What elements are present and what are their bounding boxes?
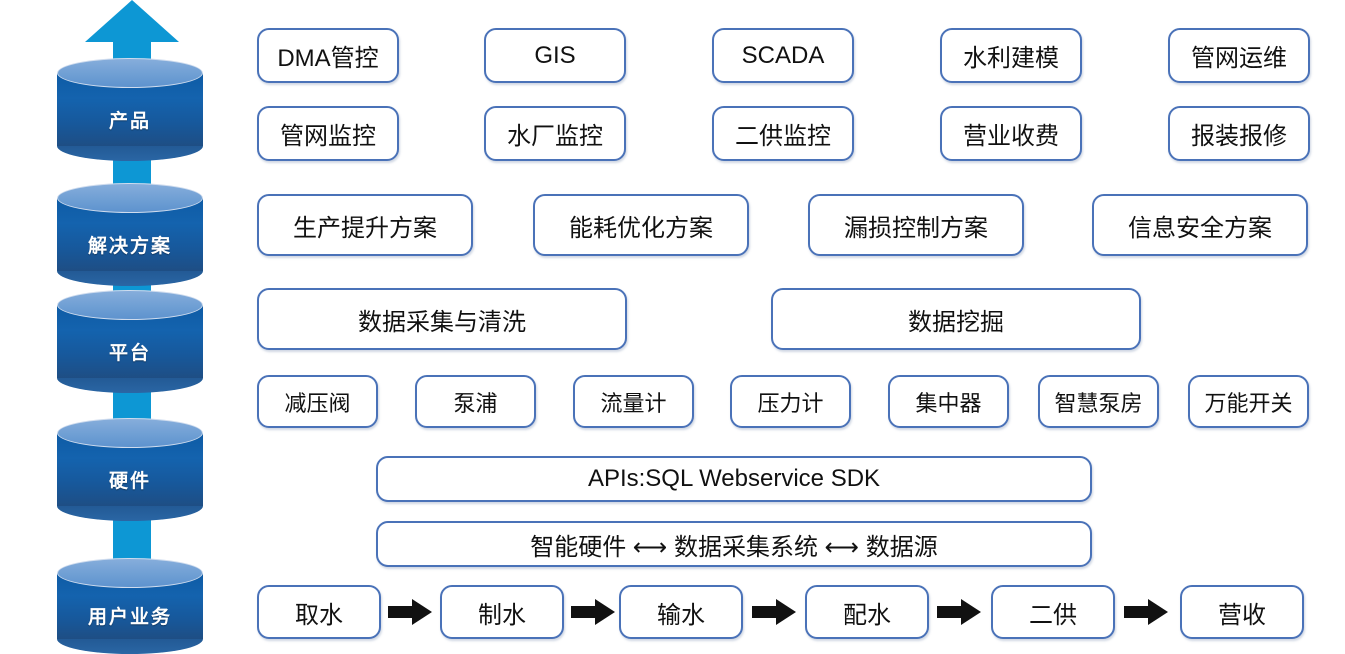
node-universal-switch[interactable]: 万能开关 (1188, 375, 1309, 428)
node-installation-repair[interactable]: 报装报修 (1168, 106, 1310, 161)
node-leakage-control-plan[interactable]: 漏损控制方案 (808, 194, 1024, 256)
layer-label-product: 产品 (57, 106, 203, 133)
node-pipe-network-monitor[interactable]: 管网监控 (257, 106, 399, 161)
cylinder-top (57, 558, 203, 588)
node-gis[interactable]: GIS (484, 28, 626, 83)
node-water-modeling[interactable]: 水利建模 (940, 28, 1082, 83)
arrow-right-icon-2 (571, 599, 615, 625)
cylinder-top (57, 290, 203, 320)
node-water-transmission[interactable]: 输水 (619, 585, 743, 639)
layer-label-solution: 解决方案 (57, 231, 203, 258)
node-pressure-gauge[interactable]: 压力计 (730, 375, 851, 428)
node-secondary-supply-monitor[interactable]: 二供监控 (712, 106, 854, 161)
cylinder-top (57, 58, 203, 88)
layer-label-hardware: 硬件 (57, 466, 203, 493)
node-pressure-reducing-valve[interactable]: 减压阀 (257, 375, 378, 428)
node-flow-meter[interactable]: 流量计 (573, 375, 694, 428)
cylinder-top (57, 183, 203, 213)
node-water-intake[interactable]: 取水 (257, 585, 381, 639)
node-waterworks-monitor[interactable]: 水厂监控 (484, 106, 626, 161)
arrow-right-icon-3 (752, 599, 796, 625)
node-water-distribution[interactable]: 配水 (805, 585, 929, 639)
arrow-right-icon-4 (937, 599, 981, 625)
arrow-right-icon-1 (388, 599, 432, 625)
layer-label-platform: 平台 (57, 338, 203, 365)
node-pipe-network-ops[interactable]: 管网运维 (1168, 28, 1310, 83)
node-revenue[interactable]: 营收 (1180, 585, 1304, 639)
node-billing[interactable]: 营业收费 (940, 106, 1082, 161)
node-production-improvement-plan[interactable]: 生产提升方案 (257, 194, 473, 256)
layer-label-business: 用户业务 (57, 602, 203, 629)
cylinder-top (57, 418, 203, 448)
node-water-treatment[interactable]: 制水 (440, 585, 564, 639)
node-pump[interactable]: 泵浦 (415, 375, 536, 428)
node-energy-optimization-plan[interactable]: 能耗优化方案 (533, 194, 749, 256)
node-acquisition-bar[interactable]: 智能硬件 ⟷ 数据采集系统 ⟷ 数据源 (376, 521, 1092, 567)
node-scada[interactable]: SCADA (712, 28, 854, 83)
node-information-security-plan[interactable]: 信息安全方案 (1092, 194, 1308, 256)
arrow-right-icon-5 (1124, 599, 1168, 625)
node-concentrator[interactable]: 集中器 (888, 375, 1009, 428)
node-api-bar[interactable]: APIs:SQL Webservice SDK (376, 456, 1092, 502)
node-data-collection-cleaning[interactable]: 数据采集与清洗 (257, 288, 627, 350)
node-dma-control[interactable]: DMA管控 (257, 28, 399, 83)
node-secondary-supply[interactable]: 二供 (991, 585, 1115, 639)
node-smart-pump-room[interactable]: 智慧泵房 (1038, 375, 1159, 428)
node-data-mining[interactable]: 数据挖掘 (771, 288, 1141, 350)
